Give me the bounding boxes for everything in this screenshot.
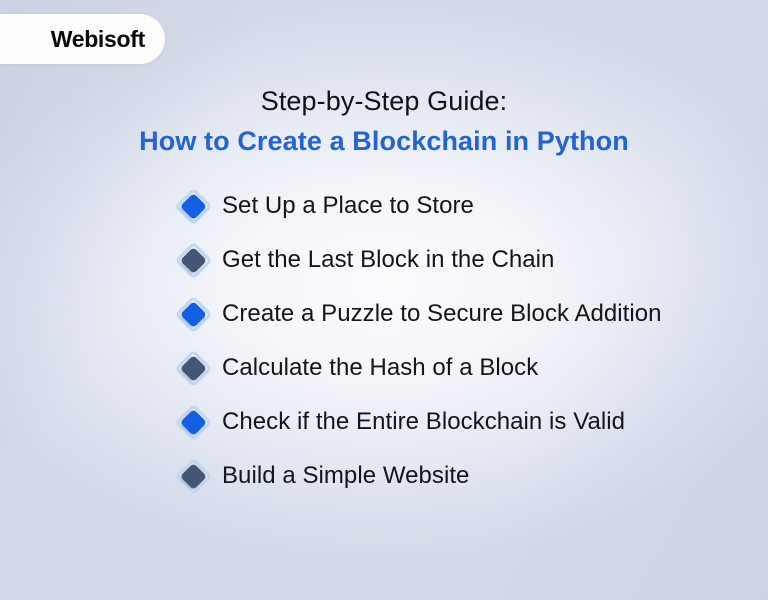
step-label: Create a Puzzle to Secure Block Addition	[222, 300, 662, 328]
diamond-bullet-icon	[178, 191, 208, 221]
list-item: Get the Last Block in the Chain	[178, 233, 662, 287]
diamond-bullet-icon	[178, 245, 208, 275]
diamond-bullet-icon	[178, 299, 208, 329]
list-item: Calculate the Hash of a Block	[178, 341, 662, 395]
diamond-bullet-icon	[178, 407, 208, 437]
step-label: Calculate the Hash of a Block	[222, 354, 538, 382]
infographic-slide: Webisoft Step-by-Step Guide: How to Crea…	[0, 0, 768, 600]
step-label: Check if the Entire Blockchain is Valid	[222, 408, 625, 436]
list-item: Set Up a Place to Store	[178, 179, 662, 233]
heading-line-1: Step-by-Step Guide:	[0, 84, 768, 118]
heading-block: Step-by-Step Guide: How to Create a Bloc…	[0, 84, 768, 160]
heading-line-2: How to Create a Blockchain in Python	[0, 122, 768, 160]
brand-logo-text: Webisoft	[51, 26, 145, 53]
list-item: Build a Simple Website	[178, 449, 662, 503]
list-item: Check if the Entire Blockchain is Valid	[178, 395, 662, 449]
brand-logo: Webisoft	[0, 14, 165, 64]
step-label: Get the Last Block in the Chain	[222, 246, 554, 274]
step-label: Build a Simple Website	[222, 462, 469, 490]
step-label: Set Up a Place to Store	[222, 192, 474, 220]
list-item: Create a Puzzle to Secure Block Addition	[178, 287, 662, 341]
steps-list: Set Up a Place to Store Get the Last Blo…	[178, 179, 662, 503]
diamond-bullet-icon	[178, 353, 208, 383]
diamond-bullet-icon	[178, 461, 208, 491]
